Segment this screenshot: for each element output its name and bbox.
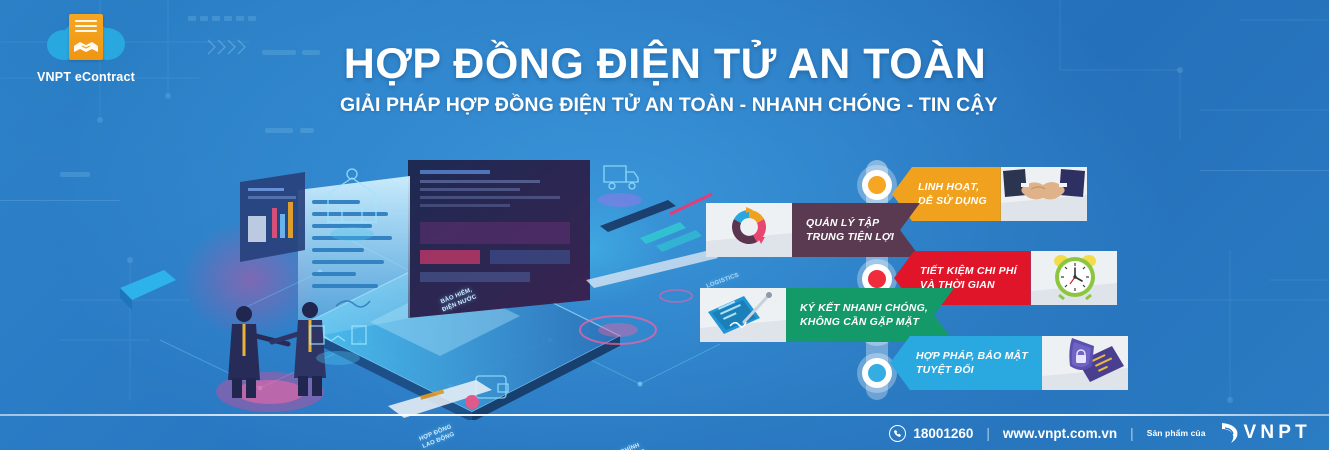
vnpt-logo[interactable]: VNPT [1219,422,1311,444]
handshake-glyph [73,39,99,55]
banner: VNPT eContract HỢP ĐỒNG ĐIỆN TỬ AN TOÀN … [0,0,1329,450]
feature-label-hop-phap-bao-mat: HỢP PHÁP, BẢO MẬT TUYỆT ĐỐI [890,336,1042,390]
alarm-clock-icon [1031,251,1117,305]
footer-bar: 18001260 | www.vnpt.com.vn | Sản phẩm củ… [889,418,1311,448]
shield-phone-icon [1042,336,1128,390]
phone-block[interactable]: 18001260 [889,425,973,442]
logo-mark [47,12,125,68]
phone-number: 18001260 [913,426,973,441]
product-of-label: Sản phẩm của [1147,428,1206,438]
cycle-chart-icon [706,203,792,257]
hero-illustration: BẢO HIỂM, ĐIỆN NƯỚC HỢP ĐỒNG LAO ĐỘNG TÀ… [120,130,740,420]
footer-divider [0,414,1329,416]
feature-label-quan-ly-tap-trung: QUẢN LÝ TẬP TRUNG TIỆN LỢI [792,203,920,257]
handshake-photo-icon [1001,167,1087,221]
feature-label-ky-ket-nhanh-chong: KÝ KẾT NHANH CHÓNG, KHÔNG CẦN GẶP MẶT [786,288,954,342]
illustration-label-finance-banking: TÀI CHÍNH NGÂN HÀNG [606,441,648,450]
document-handshake-icon [69,14,103,60]
timeline-dot-1 [868,176,886,194]
vnpt-swoosh-icon [1219,422,1239,444]
website-link[interactable]: www.vnpt.com.vn [1003,426,1117,441]
page-subtitle: GIẢI PHÁP HỢP ĐỒNG ĐIỆN TỬ AN TOÀN - NHA… [340,94,990,117]
phone-icon [889,425,906,442]
feature-ky-ket-nhanh-chong[interactable]: KÝ KẾT NHANH CHÓNG, KHÔNG CẦN GẶP MẶT [700,288,954,342]
vnpt-wordmark: VNPT [1244,422,1311,444]
feature-quan-ly-tap-trung[interactable]: QUẢN LÝ TẬP TRUNG TIỆN LỢI [706,203,920,257]
timeline-node-5[interactable] [866,362,888,384]
brand-logo[interactable]: VNPT eContract [16,12,156,84]
logo-text: VNPT eContract [16,70,156,84]
page-title: HỢP ĐỒNG ĐIỆN TỬ AN TOÀN [340,42,990,87]
timeline-node-3[interactable] [866,268,888,290]
timeline-node-1[interactable] [866,174,888,196]
headline-block: HỢP ĐỒNG ĐIỆN TỬ AN TOÀN GIẢI PHÁP HỢP Đ… [340,42,990,117]
feature-linh-hoat[interactable]: LINH HOẠT, DỄ SỬ DỤNG [892,167,1087,221]
timeline-dot-3 [868,270,886,288]
feature-hop-phap-bao-mat[interactable]: HỢP PHÁP, BẢO MẬT TUYỆT ĐỐI [890,336,1128,390]
phone-signature-icon [700,288,786,342]
illustration-label-labor-contract: HỢP ĐỒNG LAO ĐỘNG [418,424,456,450]
footer-separator-1: | [986,426,990,441]
timeline-dot-5 [868,364,886,382]
footer-separator-2: | [1130,426,1134,441]
